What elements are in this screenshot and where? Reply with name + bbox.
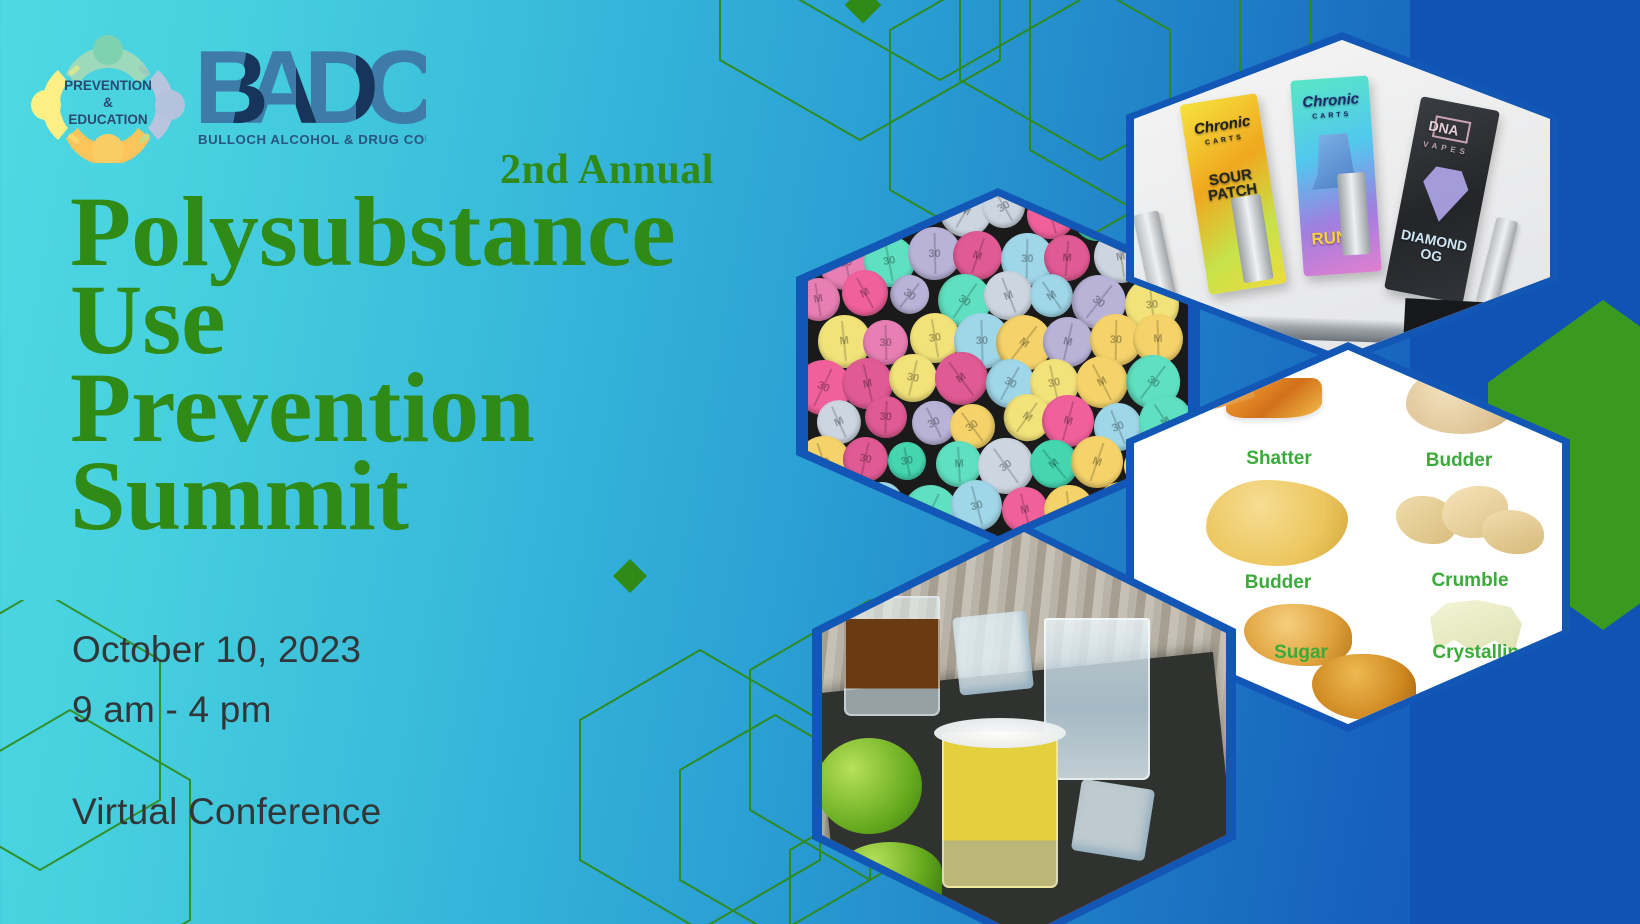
concentrate-label-budder-mid: Budder xyxy=(1190,572,1366,594)
pill: 30 xyxy=(864,395,907,438)
pill: 30 xyxy=(809,476,865,532)
pill: 30 xyxy=(808,196,848,238)
logo-text-prevention: PREVENTION xyxy=(64,78,152,93)
pill-imprint: 30 xyxy=(809,476,865,532)
vape-package-runtz: Chronic CARTS RUNTZ xyxy=(1290,76,1381,277)
title-line-4: Summit xyxy=(70,452,810,540)
prevention-education-circle-icon: PREVENTION & EDUCATION xyxy=(30,28,186,163)
ice-cube-top xyxy=(952,610,1034,695)
logo-text-ampersand: & xyxy=(103,95,113,110)
event-details: October 10, 2023 9 am - 4 pm Virtual Con… xyxy=(72,620,381,842)
pill-imprint: 30 xyxy=(885,439,930,484)
concentrate-label-budder-top: Budder xyxy=(1384,450,1534,472)
event-date: October 10, 2023 xyxy=(72,620,381,680)
ice-cube-bottom xyxy=(1071,779,1155,862)
salt-rim xyxy=(934,718,1066,748)
badc-logo: PREVENTION & EDUCATION B A D C B A D BUL xyxy=(30,28,426,163)
pill: 30 xyxy=(838,196,883,229)
pill-imprint: 30 xyxy=(838,196,883,229)
vape-brand-label-2: Chronic xyxy=(1291,89,1370,111)
title-line-3: Prevention xyxy=(70,364,810,452)
concentrate-crumble xyxy=(1386,476,1554,580)
badc-full-name: BULLOCH ALCOHOL & DRUG COUNCIL xyxy=(198,132,426,147)
concentrate-budder-mid xyxy=(1190,472,1366,582)
vape-sub-label-2: CARTS xyxy=(1293,109,1371,121)
badc-wordmark: B A D C B A D BULLOCH ALCOHOL & DRUG COU… xyxy=(196,41,426,151)
title-line-2: Use xyxy=(70,276,810,364)
pill-imprint: 30 xyxy=(808,196,848,238)
title-line-1: Polysubstance xyxy=(70,188,810,276)
concentrate-label-shatter: Shatter xyxy=(1204,448,1354,470)
event-format: Virtual Conference xyxy=(72,782,381,842)
pill-imprint: 30 xyxy=(864,395,907,438)
logo-text-education: EDUCATION xyxy=(68,112,147,127)
vodka-shot-glass xyxy=(1044,618,1150,780)
tequila-shot-glass xyxy=(942,732,1058,888)
page-title: Polysubstance Use Prevention Summit xyxy=(70,188,810,540)
event-time: 9 am - 4 pm xyxy=(72,680,381,740)
details-spacer xyxy=(72,740,381,782)
pill: 30 xyxy=(885,439,930,484)
vape-strain-label-3: DIAMOND OG xyxy=(1391,226,1475,270)
